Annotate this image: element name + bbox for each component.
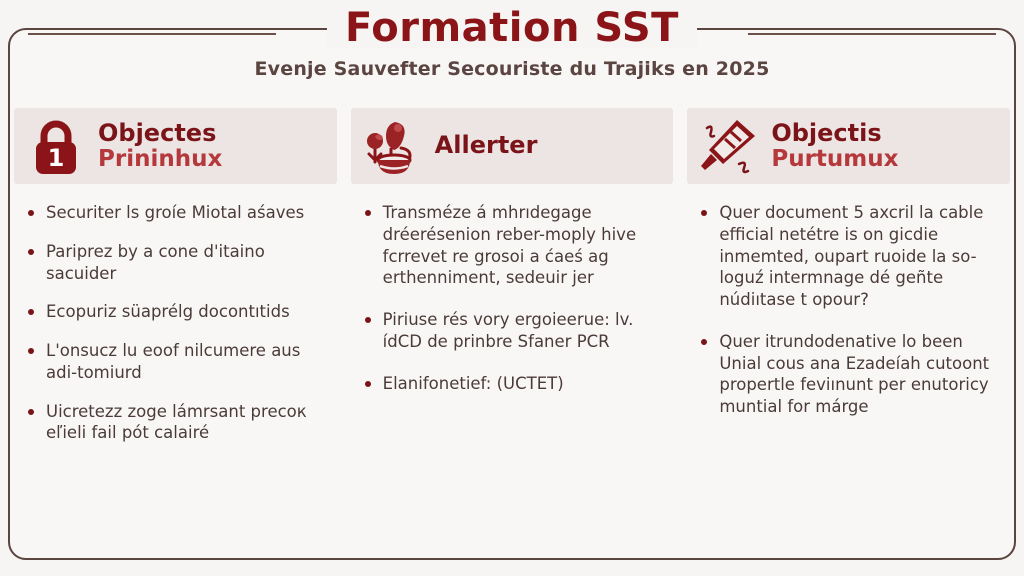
list-item: Pariprez by a cone d'itaino sacuider bbox=[24, 241, 331, 285]
svg-text:1: 1 bbox=[48, 144, 65, 172]
list-item: Elanifonetief: (UCTET) bbox=[361, 373, 668, 395]
title-mask: Formation SST bbox=[327, 8, 697, 48]
page-subtitle: Evenje Sauvefter Secouriste du Trajiks e… bbox=[0, 58, 1024, 80]
list-item: Quer document 5 axcril la cable efficial… bbox=[697, 202, 1004, 311]
column-objectes-prininhux: 1 Objectes Prininhux Securiter ls groíe … bbox=[14, 108, 337, 566]
list-item: Uicretezz zoge lámrsant precoк eľieli fa… bbox=[24, 401, 331, 445]
list-item: L'onsucz lu eoof nilcumere aus adi-tomiu… bbox=[24, 340, 331, 384]
flowers-basket-icon bbox=[361, 114, 425, 178]
column-header-3-text: Objectis Purtumux bbox=[771, 121, 898, 172]
list-item: Transméze á mhrıdegage dréerésenion rebe… bbox=[361, 202, 668, 289]
column-header-2: Allerter bbox=[351, 108, 674, 184]
telescope-icon bbox=[697, 114, 761, 178]
column-objectis-purtumux: Objectis Purtumux Quer document 5 axcril… bbox=[687, 108, 1010, 566]
bullet-list-1: Securiter ls groíe Miotal aśaves Paripr… bbox=[14, 202, 337, 461]
column-header-3: Objectis Purtumux bbox=[687, 108, 1010, 184]
columns-container: 1 Objectes Prininhux Securiter ls groíe … bbox=[14, 108, 1010, 566]
column-allerter: Allerter Transméze á mhrıdegage dréerése… bbox=[351, 108, 674, 566]
column-header-1-line1: Objectes bbox=[98, 121, 222, 147]
bullet-list-2: Transméze á mhrıdegage dréerésenion rebe… bbox=[351, 202, 674, 414]
list-item: Securiter ls groíe Miotal aśaves bbox=[24, 202, 331, 224]
column-header-2-text: Allerter bbox=[435, 133, 538, 159]
bullet-list-3: Quer document 5 axcril la cable efficial… bbox=[687, 202, 1010, 438]
list-item: Ecopuriz süaprélg docontıtids bbox=[24, 301, 331, 323]
column-header-2-line1: Allerter bbox=[435, 133, 538, 159]
title-block: Formation SST bbox=[0, 0, 1024, 56]
page-title: Formation SST bbox=[345, 8, 679, 48]
padlock-icon: 1 bbox=[24, 114, 88, 178]
column-header-1: 1 Objectes Prininhux bbox=[14, 108, 337, 184]
column-header-3-line2: Purtumux bbox=[771, 147, 898, 172]
column-header-1-line2: Prininhux bbox=[98, 147, 222, 172]
column-header-3-line1: Objectis bbox=[771, 121, 898, 147]
list-item: Quer itrundodenative lo been Unial cous … bbox=[697, 331, 1004, 418]
column-header-1-text: Objectes Prininhux bbox=[98, 121, 222, 172]
list-item: Piriuse rés vory ergoieerue: lv. ídCD de… bbox=[361, 309, 668, 353]
